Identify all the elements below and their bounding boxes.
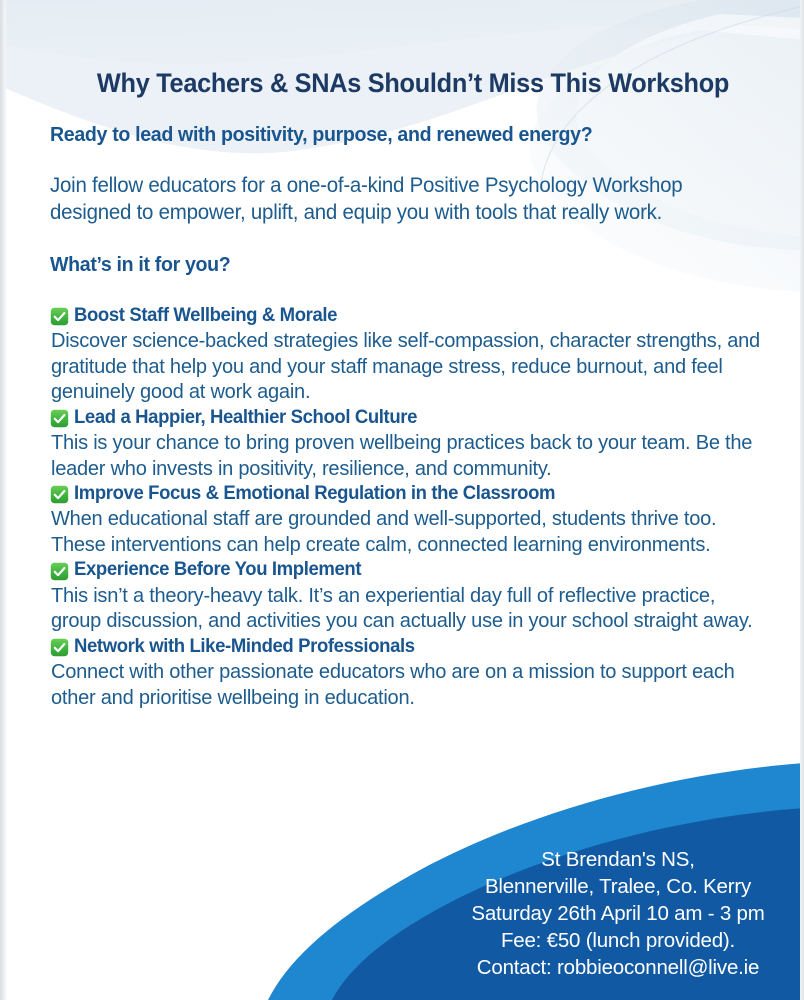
benefits-list: Boost Staff Wellbeing & Morale Discover … bbox=[50, 277, 776, 710]
poster-page: Why Teachers & SNAs Shouldn’t Miss This … bbox=[0, 0, 804, 1000]
benefit-heading-row: Network with Like-Minded Professionals bbox=[50, 634, 776, 659]
green-check-icon bbox=[50, 485, 69, 504]
benefit-heading-row: Improve Focus & Emotional Regulation in … bbox=[50, 481, 776, 506]
page-left-edge bbox=[0, 0, 6, 1000]
benefit-heading-text: Improve Focus & Emotional Regulation in … bbox=[74, 481, 555, 506]
footer-line: Contact: robbieoconnell@live.ie bbox=[420, 954, 804, 981]
green-check-icon bbox=[50, 307, 69, 326]
benefit-body-text: When educational staff are grounded and … bbox=[50, 506, 760, 557]
green-check-icon bbox=[50, 409, 69, 428]
benefit-item: Experience Before You Implement This isn… bbox=[50, 557, 776, 633]
benefit-item: Lead a Happier, Healthier School Culture… bbox=[50, 405, 776, 481]
green-check-icon bbox=[50, 638, 69, 657]
benefit-body-text: This isn’t a theory-heavy talk. It’s an … bbox=[50, 583, 760, 634]
poster-content: Why Teachers & SNAs Shouldn’t Miss This … bbox=[0, 0, 804, 710]
subheading: Ready to lead with positivity, purpose, … bbox=[50, 99, 743, 147]
benefit-heading-row: Experience Before You Implement bbox=[50, 557, 776, 582]
benefit-body-text: Discover science-backed strategies like … bbox=[50, 328, 760, 405]
footer-line: Blennerville, Tralee, Co. Kerry bbox=[420, 873, 804, 900]
benefit-heading-row: Lead a Happier, Healthier School Culture bbox=[50, 405, 776, 430]
page-right-edge bbox=[800, 0, 804, 1000]
footer-line: Saturday 26th April 10 am - 3 pm bbox=[420, 900, 804, 927]
intro-paragraph: Join fellow educators for a one-of-a-kin… bbox=[50, 147, 758, 227]
benefit-item: Network with Like-Minded Professionals C… bbox=[50, 634, 776, 710]
footer-contact-details: St Brendan's NS, Blennerville, Tralee, C… bbox=[420, 846, 804, 981]
benefit-body-text: This is your chance to bring proven well… bbox=[50, 430, 760, 481]
benefit-item: Improve Focus & Emotional Regulation in … bbox=[50, 481, 776, 557]
benefit-body-text: Connect with other passionate educators … bbox=[50, 659, 760, 710]
footer-line: Fee: €50 (lunch provided). bbox=[420, 927, 804, 954]
benefit-heading-text: Experience Before You Implement bbox=[74, 557, 361, 582]
page-title: Why Teachers & SNAs Shouldn’t Miss This … bbox=[66, 0, 759, 99]
footer-line: St Brendan's NS, bbox=[420, 846, 804, 873]
green-check-icon bbox=[50, 562, 69, 581]
benefit-item: Boost Staff Wellbeing & Morale Discover … bbox=[50, 303, 776, 405]
benefit-heading-text: Boost Staff Wellbeing & Morale bbox=[74, 303, 337, 328]
whats-in-it-heading: What’s in it for you? bbox=[50, 227, 743, 277]
benefit-heading-text: Network with Like-Minded Professionals bbox=[74, 634, 415, 659]
benefit-heading-row: Boost Staff Wellbeing & Morale bbox=[50, 303, 776, 328]
benefit-heading-text: Lead a Happier, Healthier School Culture bbox=[74, 405, 417, 430]
